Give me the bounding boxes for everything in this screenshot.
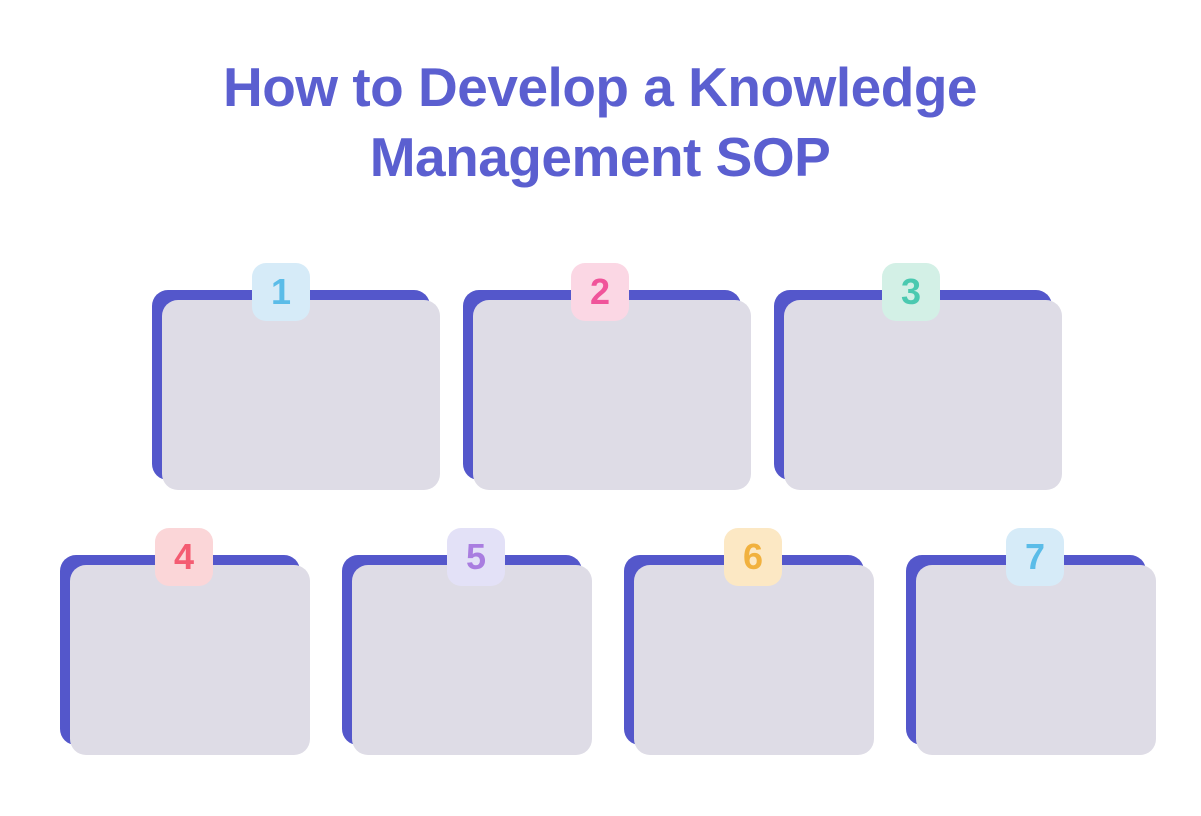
step-number-badge-5: 5 (447, 528, 505, 586)
card-shadow-7 (916, 565, 1156, 755)
card-shadow-6 (634, 565, 874, 755)
step-number-badge-3: 3 (882, 263, 940, 321)
step-number-7: 7 (1025, 539, 1045, 575)
step-number-badge-7: 7 (1006, 528, 1064, 586)
step-number-badge-2: 2 (571, 263, 629, 321)
step-item-1[interactable]: 1 Identify Knowledge Management Goals (152, 263, 430, 480)
step-item-6[interactable]: 6 Implement the SOP (624, 528, 864, 745)
card-shadow-3 (784, 300, 1062, 490)
step-item-2[interactable]: 2 Conduct a Knowledge Audit (463, 263, 741, 480)
card-shadow-4 (70, 565, 310, 755)
step-number-3: 3 (901, 274, 921, 310)
steps-row-1: 1 Identify Knowledge Management Goals 2 … (152, 263, 1052, 480)
steps-row-2: 4 Collaborate with Stakeholders 5 Draft … (60, 528, 1146, 745)
card-shadow-1 (162, 300, 440, 490)
step-item-5[interactable]: 5 Draft the SOP Document (342, 528, 582, 745)
page-title: How to Develop a Knowledge Management SO… (140, 52, 1060, 192)
step-number-4: 4 (174, 539, 194, 575)
step-number-2: 2 (590, 274, 610, 310)
step-item-7[interactable]: 7 Monitor and Update the SOP (906, 528, 1146, 745)
step-number-5: 5 (466, 539, 486, 575)
step-number-badge-4: 4 (155, 528, 213, 586)
step-number-6: 6 (743, 539, 763, 575)
step-item-4[interactable]: 4 Collaborate with Stakeholders (60, 528, 300, 745)
card-shadow-5 (352, 565, 592, 755)
step-number-badge-1: 1 (252, 263, 310, 321)
step-number-1: 1 (271, 274, 291, 310)
step-item-3[interactable]: 3 Define SOP Structure and Elements (774, 263, 1052, 480)
step-number-badge-6: 6 (724, 528, 782, 586)
card-shadow-2 (473, 300, 751, 490)
infographic-canvas: How to Develop a Knowledge Management SO… (0, 0, 1201, 816)
